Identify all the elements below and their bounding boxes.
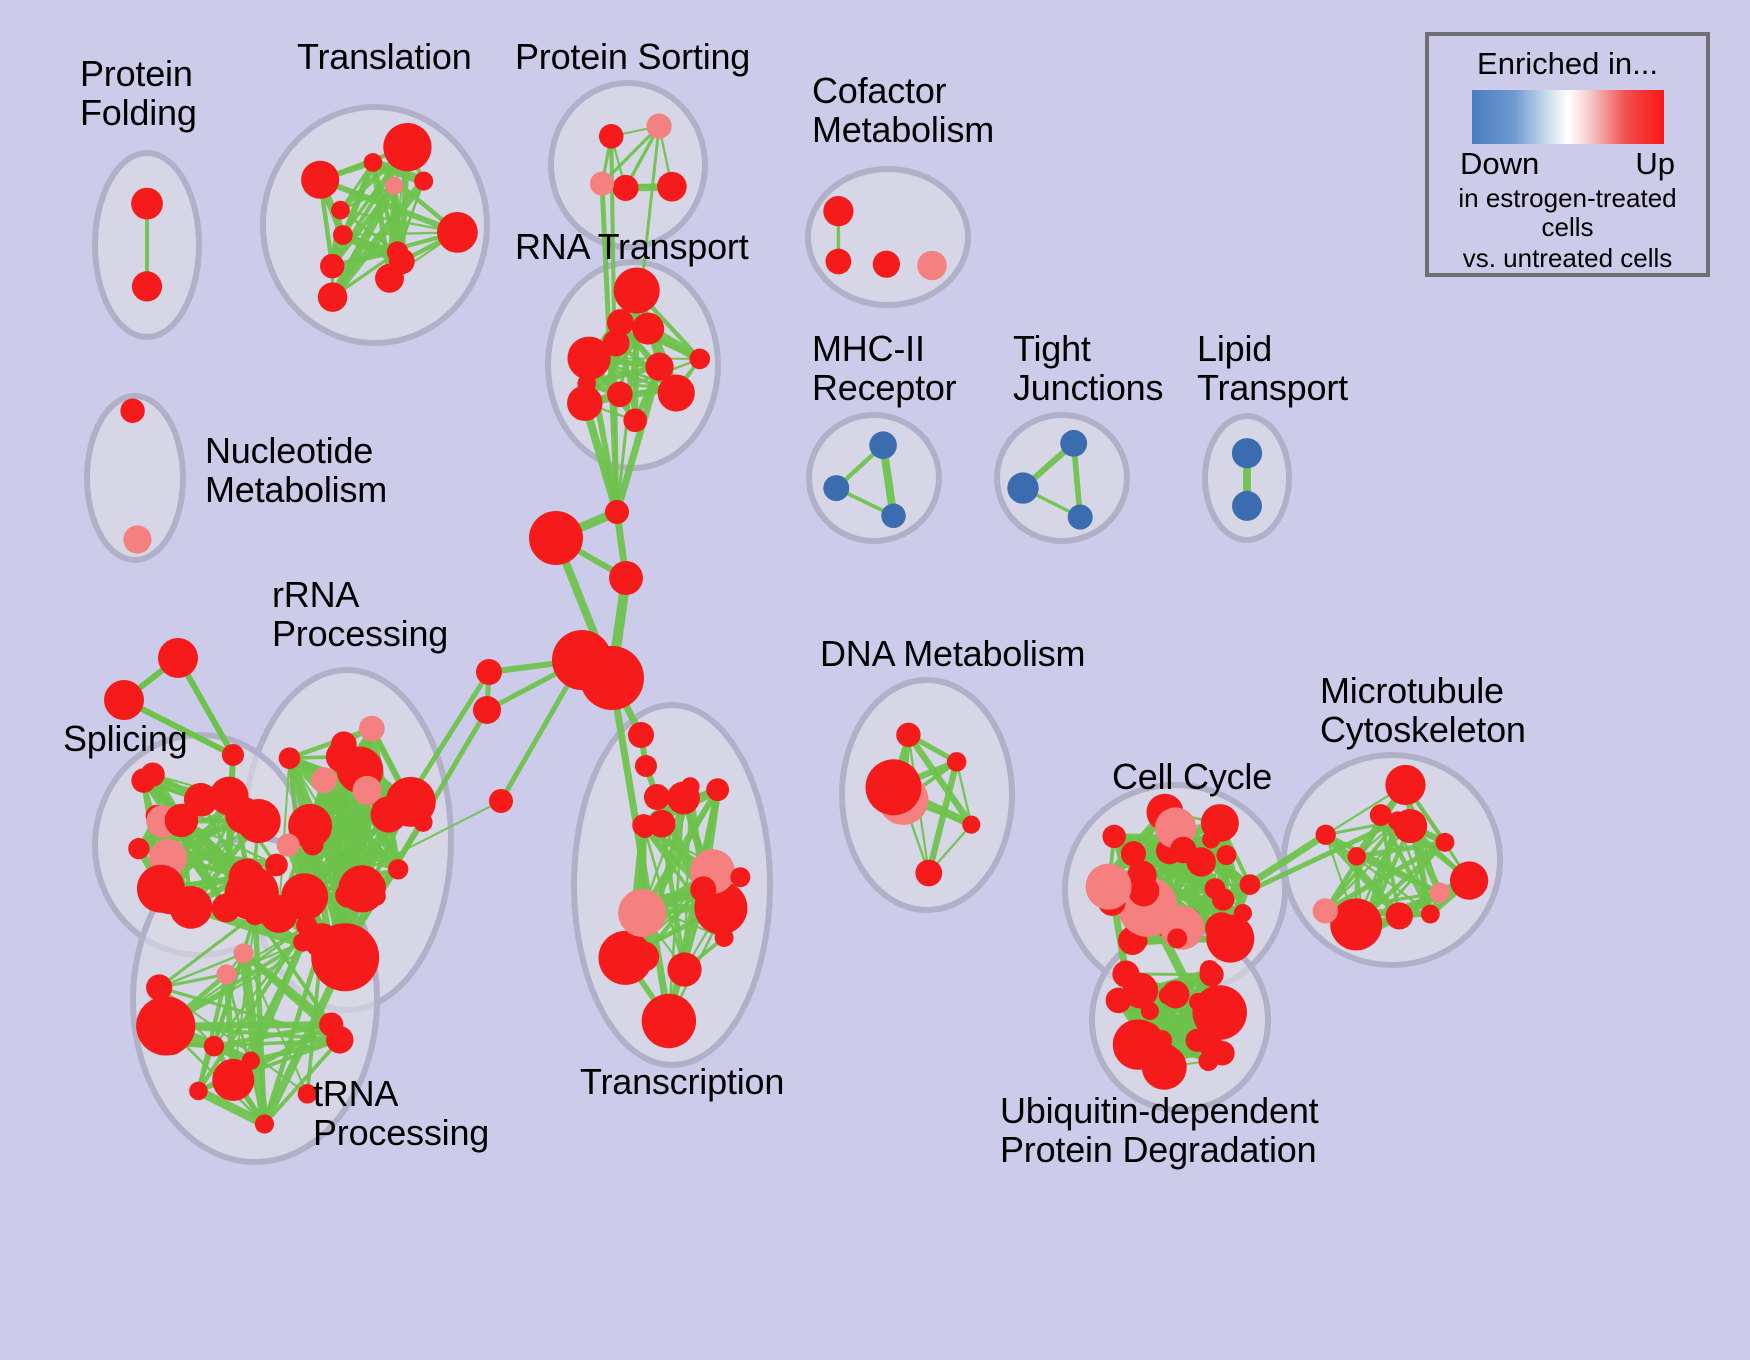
gene-set-node-rrna-processing xyxy=(370,796,406,832)
gene-set-node-microtubule-cytoskeleton xyxy=(1313,898,1338,923)
cluster-label-cofactor-metabolism: Cofactor Metabolism xyxy=(812,72,994,150)
gene-set-node-cofactor-metabolism xyxy=(826,249,852,275)
gene-set-node-splicing xyxy=(104,680,144,720)
gene-set-node-translation xyxy=(375,264,404,293)
gene-set-node-microtubule-cytoskeleton xyxy=(1385,765,1425,805)
gene-set-node-translation xyxy=(364,153,383,172)
gene-set-node-rrna-processing xyxy=(388,859,408,879)
gene-set-node-cell-cycle xyxy=(1121,841,1146,866)
gene-set-node-rna-transport xyxy=(607,382,633,408)
gene-set-node-protein-sorting xyxy=(599,124,624,149)
gene-set-node-tight-junctions xyxy=(1007,472,1038,503)
gene-set-node-translation xyxy=(301,161,339,199)
gene-set-node-dna-metabolism xyxy=(947,752,966,771)
gene-set-node-splicing xyxy=(128,838,149,859)
gene-set-node-bridge xyxy=(529,511,583,565)
legend-color-bar xyxy=(1472,90,1664,144)
gene-set-node-tight-junctions xyxy=(1060,430,1087,457)
gene-set-node-cell-cycle xyxy=(1167,928,1187,948)
cluster-label-rna-transport: RNA Transport xyxy=(515,228,749,267)
gene-set-node-microtubule-cytoskeleton xyxy=(1348,847,1366,865)
gene-set-node-nucleotide-metabolism xyxy=(120,399,144,423)
gene-set-node-cofactor-metabolism xyxy=(823,196,853,226)
gene-set-node-splicing xyxy=(212,893,241,922)
gene-set-node-bridge xyxy=(580,646,644,710)
gene-set-node-translation xyxy=(333,225,353,245)
gene-set-node-ubiquitin-protein-degradation xyxy=(1129,1022,1163,1056)
cluster-hull-protein-sorting xyxy=(551,83,705,247)
cluster-label-splicing: Splicing xyxy=(63,720,187,759)
cluster-label-rrna-processing: rRNA Processing xyxy=(272,576,448,654)
gene-set-node-rrna-processing xyxy=(366,887,385,906)
gene-set-node-transcription xyxy=(690,876,716,902)
gene-set-node-splicing xyxy=(225,797,262,834)
legend-caption-line1: in estrogen-treated cells xyxy=(1429,184,1706,242)
cluster-label-dna-metabolism: DNA Metabolism xyxy=(820,635,1085,674)
gene-set-node-cell-cycle xyxy=(1206,915,1254,963)
cluster-label-microtubule-cytoskeleton: Microtubule Cytoskeleton xyxy=(1320,672,1526,750)
gene-set-node-cell-cycle xyxy=(1187,847,1216,876)
cluster-label-mhc-ii-receptor: MHC-II Receptor xyxy=(812,330,956,408)
gene-set-node-cell-cycle xyxy=(1212,888,1234,910)
cluster-label-transcription: Transcription xyxy=(580,1063,784,1102)
cluster-label-lipid-transport: Lipid Transport xyxy=(1197,330,1348,408)
gene-set-node-trna-processing xyxy=(160,1031,184,1055)
gene-set-node-microtubule-cytoskeleton xyxy=(1316,825,1336,845)
gene-set-node-transcription xyxy=(667,782,700,815)
gene-set-node-splicing xyxy=(229,859,265,895)
gene-set-node-trna-processing xyxy=(234,943,254,963)
cluster-label-protein-sorting: Protein Sorting xyxy=(515,38,750,77)
legend-box: Enriched in... Down Up in estrogen-treat… xyxy=(1425,32,1710,277)
gene-set-node-dna-metabolism xyxy=(915,860,942,887)
gene-set-node-trna-processing xyxy=(204,1036,224,1056)
gene-set-node-trna-processing xyxy=(212,1059,254,1101)
gene-set-node-rna-transport xyxy=(665,375,690,400)
gene-set-node-trna-processing xyxy=(326,1026,353,1053)
cluster-label-ubiquitin-protein-degradation: Ubiquitin-dependent Protein Degradation xyxy=(1000,1092,1318,1170)
cluster-label-trna-processing: tRNA Processing xyxy=(313,1075,489,1153)
gene-set-node-transcription xyxy=(648,810,676,838)
gene-set-node-rna-transport xyxy=(623,408,647,432)
gene-set-node-bridge xyxy=(476,659,502,685)
legend-title: Enriched in... xyxy=(1477,46,1658,82)
gene-set-node-transcription xyxy=(642,994,696,1048)
gene-set-node-rrna-processing xyxy=(279,747,301,769)
gene-set-node-protein-folding xyxy=(131,188,163,220)
gene-set-node-rrna-processing xyxy=(335,883,360,908)
gene-set-node-protein-folding xyxy=(132,271,162,301)
gene-set-node-trna-processing xyxy=(255,1114,274,1133)
gene-set-node-cell-cycle xyxy=(1086,864,1132,910)
gene-set-node-mhc-ii-receptor xyxy=(869,431,897,459)
gene-set-node-splicing xyxy=(222,744,244,766)
gene-set-node-microtubule-cytoskeleton xyxy=(1450,861,1488,899)
gene-set-node-microtubule-cytoskeleton xyxy=(1393,809,1427,843)
cluster-label-translation: Translation xyxy=(297,38,472,77)
legend-caption-line2: vs. untreated cells xyxy=(1463,244,1673,273)
gene-set-node-microtubule-cytoskeleton xyxy=(1421,905,1440,924)
cluster-hull-cofactor-metabolism xyxy=(808,169,968,305)
gene-set-node-bridge xyxy=(644,784,670,810)
gene-set-node-rna-transport xyxy=(632,313,664,345)
gene-set-node-bridge xyxy=(628,722,654,748)
gene-set-node-transcription xyxy=(667,952,701,986)
gene-set-node-bridge xyxy=(609,561,643,595)
gene-set-node-translation xyxy=(331,201,350,220)
gene-set-node-mhc-ii-receptor xyxy=(823,475,849,501)
gene-set-node-rrna-processing xyxy=(277,834,300,857)
gene-set-node-trna-processing xyxy=(245,904,266,925)
gene-set-node-ubiquitin-protein-degradation xyxy=(1192,985,1247,1040)
enrichment-map-figure: Protein FoldingTranslationProtein Sortin… xyxy=(0,0,1750,1360)
gene-set-node-translation xyxy=(437,212,478,253)
gene-set-node-translation xyxy=(320,254,344,278)
gene-set-node-bridge xyxy=(635,755,657,777)
gene-set-node-rrna-processing xyxy=(359,716,385,742)
gene-set-node-dna-metabolism xyxy=(962,816,980,834)
gene-set-node-rrna-processing xyxy=(292,878,310,896)
gene-set-node-mhc-ii-receptor xyxy=(881,504,906,529)
gene-set-node-translation xyxy=(383,123,431,171)
gene-set-node-bridge xyxy=(605,500,629,524)
gene-set-node-cofactor-metabolism xyxy=(873,251,900,278)
gene-set-node-splicing xyxy=(158,638,198,678)
gene-set-node-rrna-processing xyxy=(311,767,337,793)
gene-set-node-ubiquitin-protein-degradation xyxy=(1112,960,1139,987)
gene-set-node-rna-transport xyxy=(689,349,710,370)
gene-set-node-protein-sorting xyxy=(646,114,671,139)
gene-set-node-microtubule-cytoskeleton xyxy=(1386,902,1413,929)
gene-set-node-transcription xyxy=(630,894,650,914)
gene-set-node-lipid-transport xyxy=(1232,438,1262,468)
gene-set-node-microtubule-cytoskeleton xyxy=(1429,883,1449,903)
gene-set-node-trna-processing xyxy=(216,964,236,984)
gene-set-node-transcription xyxy=(598,931,652,985)
cluster-label-protein-folding: Protein Folding xyxy=(80,55,197,133)
gene-set-node-translation xyxy=(318,282,347,311)
gene-set-node-transcription xyxy=(730,867,750,887)
gene-set-node-protein-sorting xyxy=(590,172,614,196)
gene-set-node-transcription xyxy=(706,778,729,801)
gene-set-node-rrna-processing xyxy=(310,810,329,829)
gene-set-node-cofactor-metabolism xyxy=(917,251,946,280)
gene-set-node-rna-transport xyxy=(607,309,634,336)
gene-set-node-tight-junctions xyxy=(1068,505,1093,530)
cluster-label-tight-junctions: Tight Junctions xyxy=(1013,330,1163,408)
gene-set-node-protein-sorting xyxy=(613,175,639,201)
gene-set-node-dna-metabolism xyxy=(896,723,920,747)
gene-set-node-ubiquitin-protein-degradation xyxy=(1200,962,1224,986)
gene-set-node-trna-processing xyxy=(189,1082,208,1101)
gene-set-node-translation xyxy=(414,172,433,191)
gene-set-node-cell-cycle xyxy=(1102,825,1125,848)
gene-set-node-splicing xyxy=(141,762,165,786)
gene-set-node-nucleotide-metabolism xyxy=(123,525,151,553)
gene-set-node-ubiquitin-protein-degradation xyxy=(1204,1035,1222,1053)
gene-set-node-trna-processing xyxy=(146,974,172,1000)
gene-set-node-lipid-transport xyxy=(1232,491,1262,521)
gene-set-node-microtubule-cytoskeleton xyxy=(1330,898,1382,950)
gene-set-node-cell-cycle xyxy=(1216,845,1236,865)
gene-set-node-trna-processing xyxy=(293,933,312,952)
gene-set-node-cell-cycle xyxy=(1240,874,1261,895)
gene-set-node-cell-cycle xyxy=(1201,804,1239,842)
cluster-label-cell-cycle: Cell Cycle xyxy=(1112,758,1272,797)
gene-set-node-splicing xyxy=(137,865,185,913)
gene-set-node-transcription xyxy=(715,928,734,947)
legend-endpoints: Down Up xyxy=(1460,146,1675,182)
gene-set-node-ubiquitin-protein-degradation xyxy=(1162,981,1190,1009)
gene-set-node-dna-metabolism xyxy=(865,759,921,815)
gene-set-node-ubiquitin-protein-degradation xyxy=(1198,1051,1218,1071)
cluster-label-nucleotide-metabolism: Nucleotide Metabolism xyxy=(205,432,387,510)
legend-low-label: Down xyxy=(1460,146,1539,182)
legend-high-label: Up xyxy=(1635,146,1675,182)
gene-set-node-translation xyxy=(385,177,403,195)
gene-set-node-microtubule-cytoskeleton xyxy=(1435,833,1454,852)
gene-set-node-rna-transport xyxy=(614,268,660,314)
gene-set-node-protein-sorting xyxy=(657,172,687,202)
gene-set-node-rrna-processing xyxy=(413,813,432,832)
gene-set-node-bridge xyxy=(489,789,513,813)
gene-set-node-bridge xyxy=(473,696,501,724)
